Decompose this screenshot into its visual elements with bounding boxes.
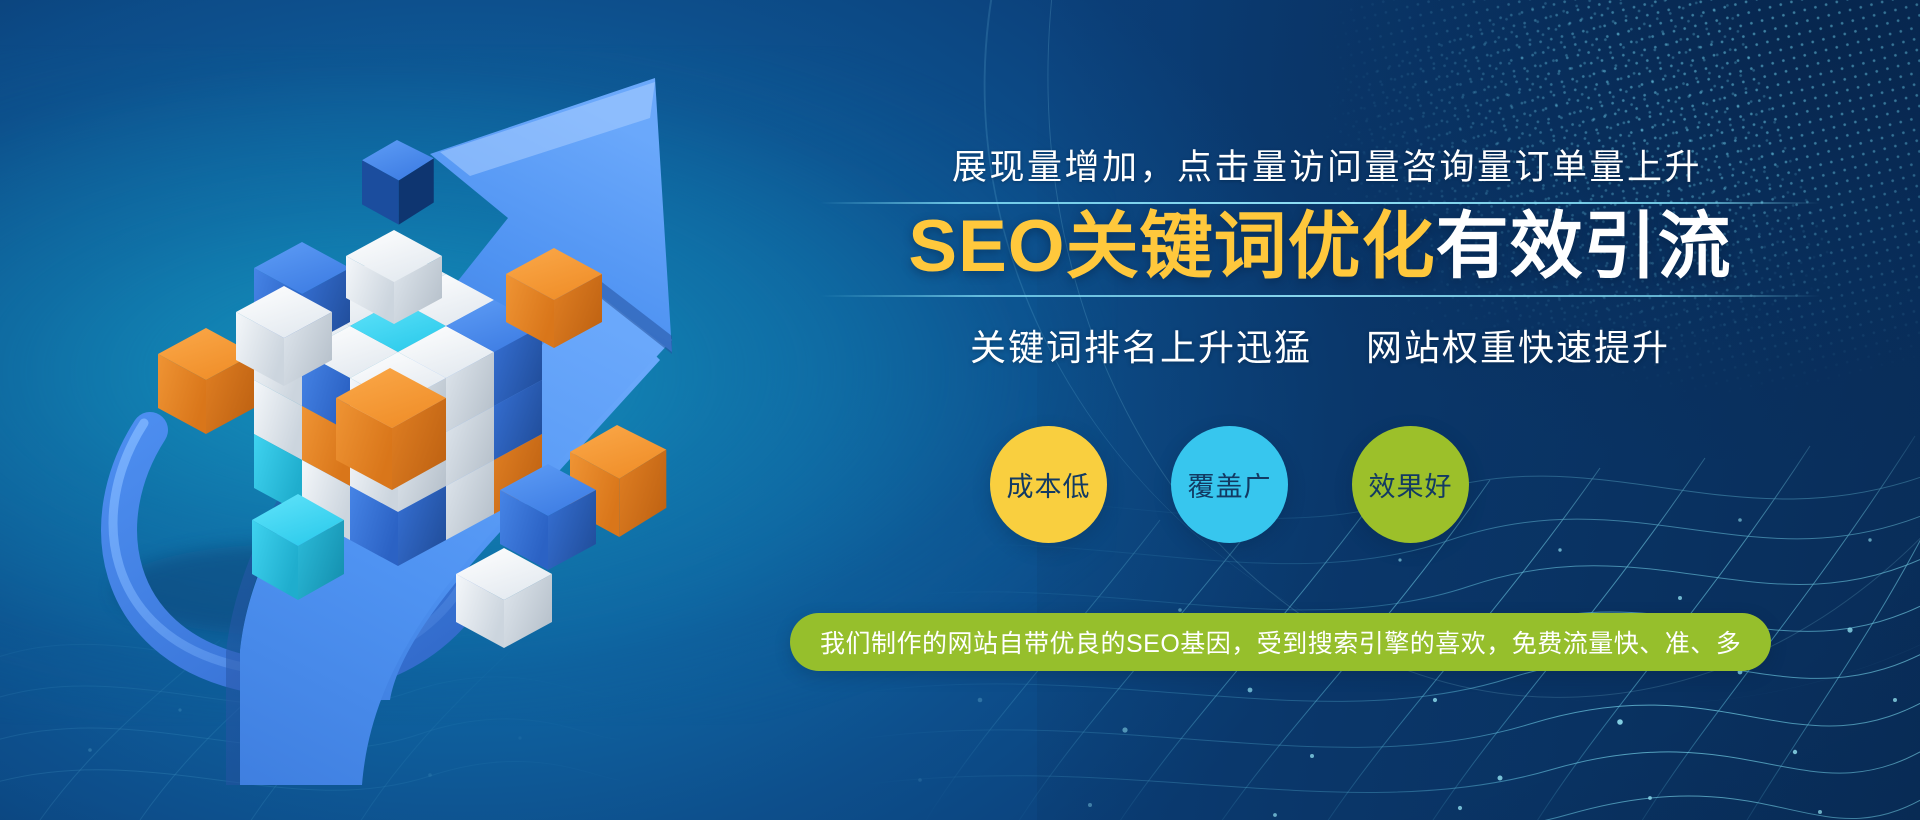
floating-blue-cube-icon [362,140,434,225]
headline-highlight: SEO关键词优化 [908,206,1435,287]
subline-right: 网站权重快速提升 [1366,327,1670,368]
footer-pill-text: 我们制作的网站自带优良的SEO基因，受到搜索引擎的喜欢，免费流量快、准、多 [820,624,1741,660]
banner-text-block: 展现量增加，点击量访问量咨询量订单量上升 SEO关键词优化有效引流 关键词排名上… [820,146,1820,371]
badge-low-cost[interactable]: 成本低 [990,426,1107,543]
badge-low-cost-label: 成本低 [1007,465,1091,504]
subline-left: 关键词排名上升迅猛 [970,327,1312,368]
badge-wide-coverage[interactable]: 覆盖广 [1171,426,1288,543]
footer-pill: 我们制作的网站自带优良的SEO基因，受到搜索引擎的喜欢，免费流量快、准、多 [790,613,1771,671]
seo-promo-banner: 展现量增加，点击量访问量咨询量订单量上升 SEO关键词优化有效引流 关键词排名上… [0,0,1920,820]
badge-good-results[interactable]: 效果好 [1352,426,1469,543]
arrow-and-cube-graphic [0,0,760,820]
banner-kicker: 展现量增加，点击量访问量咨询量订单量上升 [820,146,1820,190]
banner-subline: 关键词排名上升迅猛网站权重快速提升 [820,319,1820,371]
divider-bottom [820,295,1820,297]
feature-badges: 成本低 覆盖广 效果好 [990,414,1550,554]
banner-headline: SEO关键词优化有效引流 [820,208,1820,287]
headline-rest: 有效引流 [1436,206,1732,287]
divider-top [820,202,1820,204]
badge-wide-coverage-label: 覆盖广 [1188,465,1272,504]
badge-good-results-label: 效果好 [1369,465,1453,504]
